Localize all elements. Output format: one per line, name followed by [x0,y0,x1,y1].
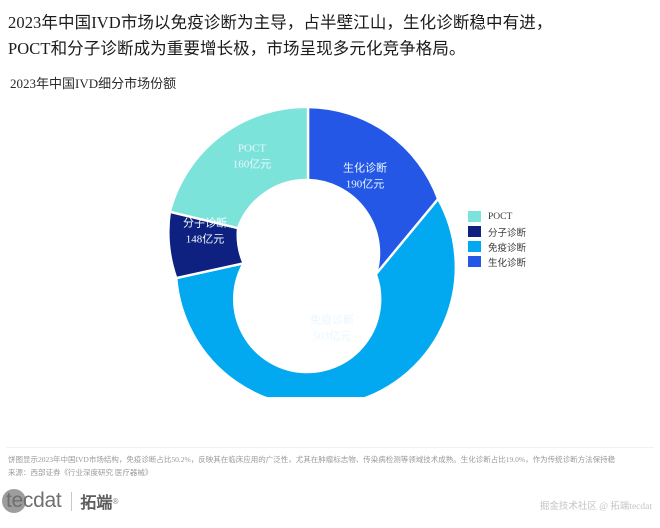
brand-logo-group: tecdat 拓端 ® [4,486,118,516]
headline-line-1: 2023年中国IVD市场以免疫诊断为主导，占半壁江山，生化诊断稳中有进， [8,10,652,36]
legend-label-poct: POCT [488,212,512,222]
slice-label-immunodiagnostics-name: 免疫诊断 [310,313,354,327]
plot-area: 生化诊断 190亿元 免疫诊断 503亿元 分子诊断 148亿元 POCT 16… [8,92,652,397]
brand-bar: tecdat 拓端 ® 掘金技术社区 @ 拓端tecdat [0,486,660,528]
legend-label-immunodiagnostics: 免疫诊断 [488,240,526,254]
slice-label-poct-name: POCT [238,143,266,155]
tecdat-logo: tecdat [4,487,61,515]
footnote-analysis: 饼图显示2023年中国IVD市场结构，免疫诊断占比50.2%，反映其在临床应用的… [8,455,660,466]
registered-mark-icon: ® [112,497,118,506]
legend-item-molecular[interactable]: 分子诊断 [468,225,588,238]
legend-swatch-icon-immunodiagnostics [468,241,481,252]
legend-swatch-icon-poct [468,211,481,222]
chart-title: 2023年中国IVD细分市场份额 [8,71,652,92]
slice-label-poct-value: 160亿元 [233,158,272,171]
legend-item-biochemical[interactable]: 生化诊断 [468,255,588,268]
donut-svg: 生化诊断 190亿元 免疫诊断 503亿元 分子诊断 148亿元 POCT 16… [158,97,458,397]
legend-item-poct[interactable]: POCT [468,210,588,223]
headline-line-2: POCT和分子诊断成为重要增长极，市场呈现多元化竞争格局。 [8,36,652,62]
footer-divider [6,447,654,448]
tecdat-logo-text: tecdat [4,489,61,513]
slice-label-biochemical-value: 190亿元 [346,178,385,191]
chart-legend: POCT 分子诊断 免疫诊断 生化诊断 [468,210,588,270]
brand-separator [71,492,72,511]
watermark: 掘金技术社区 @ 拓端tecdat [540,498,652,512]
legend-label-molecular: 分子诊断 [488,225,526,239]
footnote-source: 来源：西部证券《行业深度研究 医疗器械》 [8,468,660,479]
slice-label-molecular-value: 148亿元 [186,233,225,246]
chart-card: 2023年中国IVD细分市场份额 生化诊断 190亿元 免疫 [8,71,652,416]
headline: 2023年中国IVD市场以免疫诊断为主导，占半壁江山，生化诊断稳中有进， POC… [0,0,660,61]
donut-chart: 生化诊断 190亿元 免疫诊断 503亿元 分子诊断 148亿元 POCT 16… [158,97,458,397]
footnotes: 饼图显示2023年中国IVD市场结构，免疫诊断占比50.2%，反映其在临床应用的… [8,455,660,479]
legend-item-immunodiagnostics[interactable]: 免疫诊断 [468,240,588,253]
legend-swatch-icon-molecular [468,226,481,237]
slice-label-immunodiagnostics: 免疫诊断 503亿元 [310,313,354,343]
slice-label-molecular-name: 分子诊断 [183,216,227,230]
legend-label-biochemical: 生化诊断 [488,255,526,269]
slice-label-immunodiagnostics-value: 503亿元 [313,330,352,343]
legend-swatch-icon-biochemical [468,256,481,267]
slice-label-biochemical-name: 生化诊断 [343,161,387,175]
brand-chinese-name: 拓端 [80,489,112,513]
